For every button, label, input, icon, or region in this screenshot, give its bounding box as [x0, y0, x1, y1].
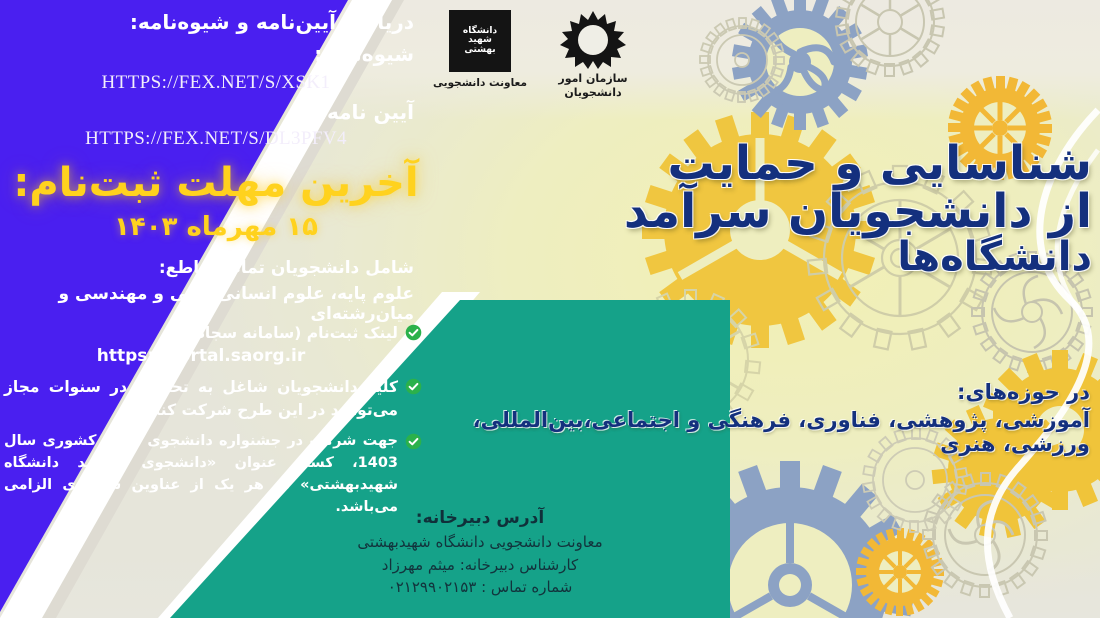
- registration-url[interactable]: https://portal.saorg.ir: [4, 346, 398, 366]
- university-logo-caption: معاونت دانشجویی: [425, 77, 535, 89]
- method-label: شیوه‌نامه:: [40, 42, 414, 66]
- regulation-label: آیین نامه:: [40, 100, 414, 124]
- organization-caption-line-1: سازمان امور: [533, 72, 653, 86]
- includes-body: علوم پایه، علوم انسانی، فنی و مهندسی و م…: [10, 284, 414, 324]
- organization-caption-line-2: دانشجویان: [533, 86, 653, 100]
- list-item: جهت شرکت در جشنواره دانشجوی نمونه کشوری …: [4, 431, 424, 518]
- address-line-1: معاونت دانشجویی دانشگاه شهیدبهشتی: [300, 531, 660, 554]
- deadline-title: آخرین مهلت ثبت‌نام:: [0, 160, 432, 206]
- list-item: لینک ثبت‌نام (سامانه سجاد): https://port…: [4, 322, 424, 366]
- title-line-2: از دانشجویان سرآمد: [572, 188, 1092, 236]
- address-line-2: کارشناس دبیرخانه: میثم مهرزاد: [300, 554, 660, 577]
- organization-logo-caption: سازمان امور دانشجویان: [533, 72, 653, 100]
- download-header: دریافت آیین‌نامه و شیوه‌نامه:: [40, 10, 414, 34]
- bullet-text: جهت شرکت در جشنواره دانشجوی نمونه کشوری …: [4, 431, 398, 518]
- list-item: کلیه دانشجویان شاغل به تحصیل در سنوات مج…: [4, 376, 424, 421]
- check-circle-icon: [405, 378, 422, 395]
- address-title: آدرس دبیرخانه:: [300, 508, 660, 528]
- logo-group: دانشگاه شهید بهشتی معاونت دانشجویی سازما…: [425, 6, 655, 116]
- secretariat-address-block: آدرس دبیرخانه: معاونت دانشجویی دانشگاه ش…: [300, 508, 660, 599]
- title-line-1: شناسایی و حمایت: [572, 140, 1092, 188]
- poster-root: دانشگاه شهید بهشتی معاونت دانشجویی سازما…: [0, 0, 1100, 618]
- bullet-text: لینک ثبت‌نام (سامانه سجاد):: [4, 322, 398, 344]
- bullet-list: لینک ثبت‌نام (سامانه سجاد): https://port…: [4, 322, 424, 528]
- poster-main-title: شناسایی و حمایت از دانشجویان سرآمد دانشگ…: [572, 140, 1092, 278]
- fields-title: در حوزه‌های:: [430, 380, 1090, 404]
- university-seal-icon: دانشگاه شهید بهشتی: [449, 10, 511, 72]
- fields-body: آموزشی، پژوهشی، فناوری، فرهنگی و اجتماعی…: [430, 408, 1090, 456]
- regulation-url[interactable]: HTTPS://FEX.NET/S/DL3PFV4: [0, 128, 432, 150]
- includes-title: شامل دانشجویان تمام مقاطع:: [30, 258, 414, 278]
- fields-section: در حوزه‌های: آموزشی، پژوهشی، فناوری، فره…: [430, 380, 1090, 456]
- check-circle-icon: [405, 433, 422, 450]
- check-circle-icon: [405, 324, 422, 341]
- shahid-beheshti-university-logo: دانشگاه شهید بهشتی معاونت دانشجویی: [425, 10, 535, 89]
- student-affairs-organization-logo: سازمان امور دانشجویان: [533, 8, 653, 100]
- method-url[interactable]: HTTPS://FEX.NET/S/XSK1: [0, 72, 432, 94]
- title-line-3: دانشگاه‌ها: [572, 237, 1092, 278]
- starburst-icon: [557, 8, 629, 70]
- bullet-text: کلیه دانشجویان شاغل به تحصیل در سنوات مج…: [4, 376, 398, 421]
- university-seal-text: دانشگاه شهید بهشتی: [452, 25, 508, 57]
- address-phone: شماره تماس : ۰۲۱۲۹۹۰۲۱۵۳: [300, 576, 660, 599]
- deadline-date: ۱۵ مهرماه ۱۴۰۳: [0, 212, 432, 242]
